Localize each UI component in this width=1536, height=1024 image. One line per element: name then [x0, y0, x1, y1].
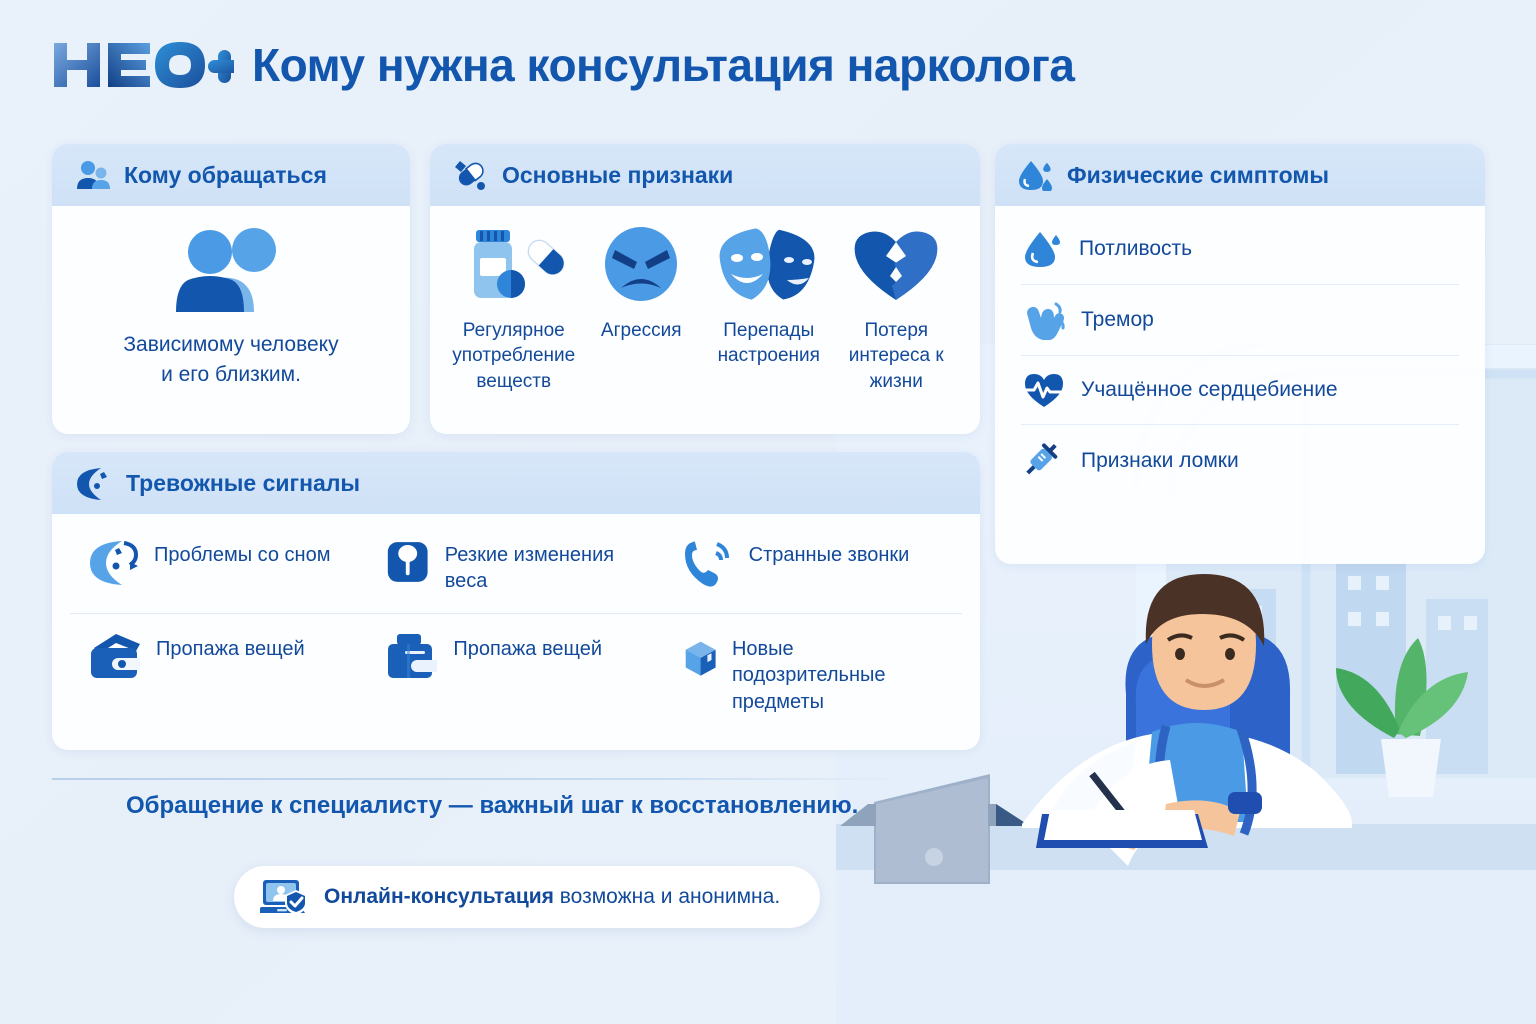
syringe-icon — [1023, 440, 1065, 482]
alarm-label: Пропажа вещей — [156, 632, 305, 662]
alarm-item: Пропажа вещей — [367, 614, 664, 733]
phone-call-icon — [683, 538, 735, 588]
page-title: Кому нужна консультация нарколога — [252, 38, 1074, 92]
phys-label: Признаки ломки — [1081, 447, 1239, 474]
alarm-item: Резкие изменения веса — [367, 520, 664, 614]
alarm-label: Резкие изменения веса — [445, 538, 651, 595]
online-consultation-text: Онлайн-консультация возможна и анонимна. — [324, 885, 780, 909]
phys-label: Учащённое сердцебиение — [1081, 376, 1338, 403]
sign-label: Потеря интереса к жизни — [834, 318, 958, 394]
alarm-label: Проблемы со сном — [154, 538, 330, 568]
sign-item: Регулярное употребление веществ — [452, 226, 576, 394]
card-signs-title: Основные признаки — [502, 162, 733, 189]
card-who-title: Кому обращаться — [124, 162, 327, 189]
alarm-label: Пропажа вещей — [453, 632, 602, 662]
footer-divider — [52, 778, 912, 780]
card-signs-body: Регулярное употребление веществ Агрессия… — [430, 206, 980, 410]
phys-item: Тремор — [1021, 285, 1459, 356]
phys-label: Потливость — [1079, 235, 1192, 262]
alarm-label: Новые подозрительные предметы — [732, 632, 948, 715]
package-box-icon — [683, 632, 718, 684]
sign-label: Агрессия — [601, 318, 682, 343]
brand-logo — [52, 39, 234, 91]
alarm-item: Пропажа вещей — [70, 614, 367, 733]
alarm-label: Странные звонки — [749, 538, 910, 568]
phys-list: Потливость Тремор Учащённое сердцебиение — [995, 206, 1485, 497]
broken-heart-icon — [844, 226, 948, 304]
card-alarm-signals: Тревожные сигналы Проблемы со сном — [52, 452, 980, 750]
sign-item: Перепады настроения — [707, 226, 831, 369]
online-consultation-badge: Онлайн-консультация возможна и анонимна. — [234, 866, 820, 928]
people-icon — [76, 160, 110, 190]
sign-label: Перепады настроения — [707, 318, 831, 369]
phys-item: Учащённое сердцебиение — [1021, 356, 1459, 425]
pill-rest-text: возможна и анонимна. — [554, 885, 780, 908]
phys-item: Потливость — [1021, 214, 1459, 285]
alarm-item: Новые подозрительные предметы — [665, 614, 962, 733]
card-alarms-header: Тревожные сигналы — [52, 452, 980, 514]
water-drop-icon — [1019, 159, 1053, 191]
pill-bottle-icon — [462, 226, 566, 304]
sign-label: Регулярное употребление веществ — [452, 318, 576, 394]
phys-label: Тремор — [1081, 306, 1154, 333]
closed-wallet-icon — [385, 632, 439, 680]
moon-sleep-icon — [88, 538, 140, 588]
heartbeat-icon — [1023, 371, 1065, 409]
card-physical-symptoms: Физические симптомы Потливость Тремор — [995, 144, 1485, 564]
alarm-item: Проблемы со сном — [70, 520, 367, 614]
neo-plus-logo-icon — [52, 39, 234, 91]
card-alarms-body: Проблемы со сном Резкие изменения веса С… — [52, 514, 980, 749]
card-who-body: Зависимому человеку и его близким. — [52, 206, 410, 406]
card-signs-header: Основные признаки — [430, 144, 980, 206]
angry-face-icon — [589, 226, 693, 304]
page-header: Кому нужна консультация нарколога — [52, 38, 1074, 92]
two-persons-icon — [166, 228, 296, 316]
alarm-item: Странные звонки — [665, 520, 962, 614]
pill-strong-text: Онлайн-консультация — [324, 885, 554, 908]
pills-icon — [454, 159, 488, 191]
card-who-text: Зависимому человеку и его близким. — [123, 330, 338, 390]
shaking-hand-icon — [1023, 300, 1065, 340]
who-text-line2: и его близким. — [123, 360, 338, 390]
sign-item: Потеря интереса к жизни — [834, 226, 958, 394]
card-phys-title: Физические симптомы — [1067, 162, 1329, 189]
who-text-line1: Зависимому человеку — [123, 330, 338, 360]
laptop-verified-icon — [260, 877, 310, 917]
phys-item: Признаки ломки — [1021, 425, 1459, 497]
sign-item: Агрессия — [579, 226, 703, 343]
card-who-header: Кому обращаться — [52, 144, 410, 206]
card-phys-header: Физические симптомы — [995, 144, 1485, 206]
drop-icon — [1023, 229, 1063, 269]
crescent-moon-icon — [76, 466, 112, 500]
card-main-signs: Основные признаки Регулярное употреблени… — [430, 144, 980, 434]
footer-message: Обращение к специалисту — важный шаг к в… — [126, 792, 858, 820]
scale-icon — [385, 538, 430, 586]
card-alarms-title: Тревожные сигналы — [126, 470, 360, 497]
card-who-to-contact: Кому обращаться Зависимому человеку и ег… — [52, 144, 410, 434]
open-wallet-icon — [88, 632, 142, 680]
alarms-grid: Проблемы со сном Резкие изменения веса С… — [70, 520, 962, 733]
theater-masks-icon — [717, 226, 821, 304]
